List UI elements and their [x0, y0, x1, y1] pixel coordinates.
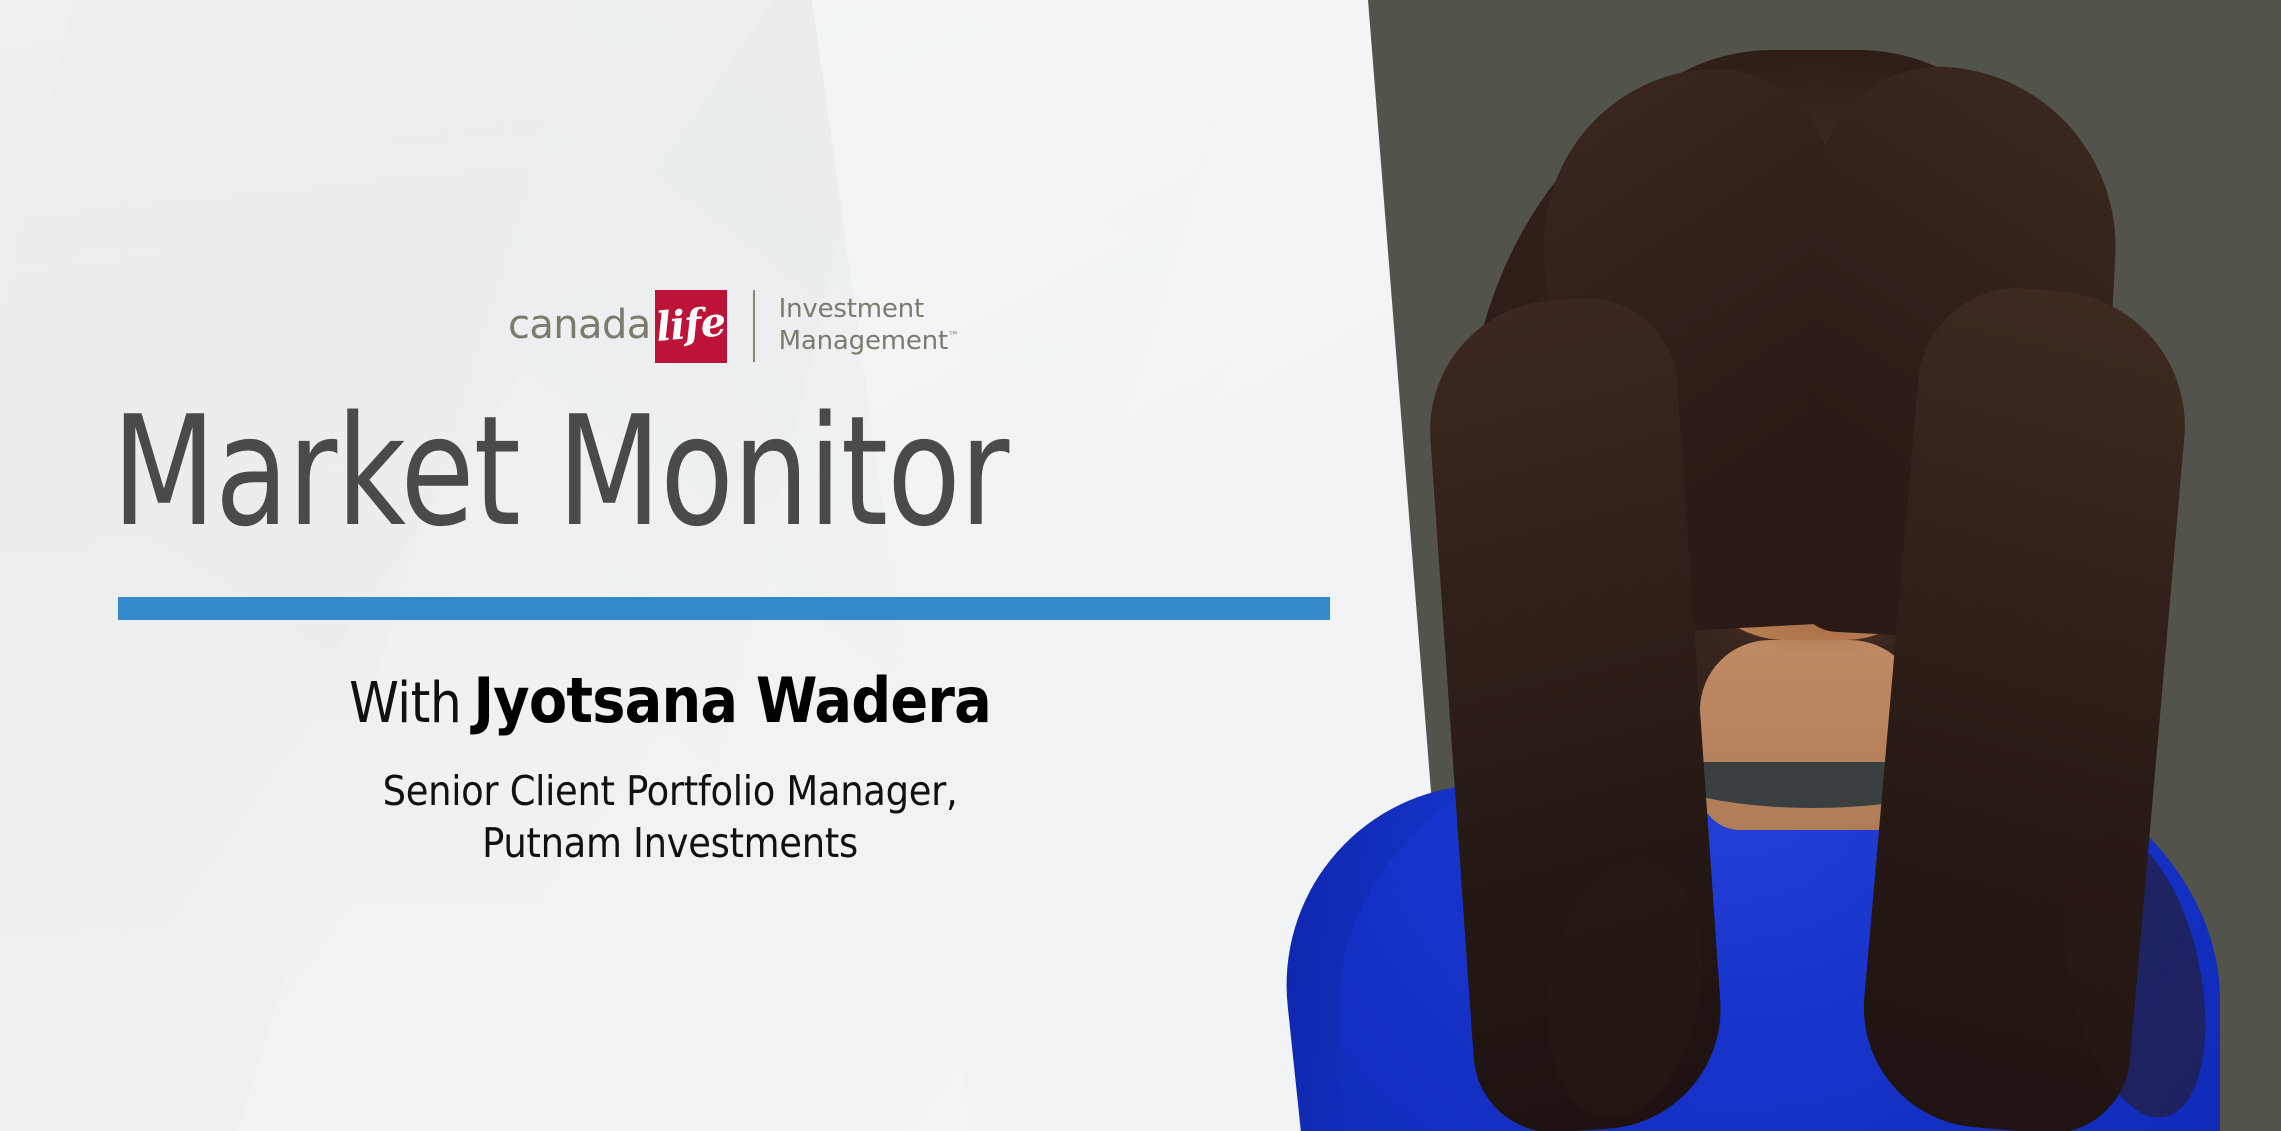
logo-divider — [753, 290, 755, 362]
logo-investment-management-lockup: Investment Management™ — [779, 294, 959, 357]
title-underline-rule — [118, 597, 1330, 620]
presenter-role: Senior Client Portfolio Manager, Putnam … — [0, 765, 1340, 870]
presenter-role-line2: Putnam Investments — [0, 817, 1340, 869]
presenter-role-line1: Senior Client Portfolio Manager, — [0, 765, 1340, 817]
canada-life-investment-management-logo: canada life Investment Management™ — [508, 287, 959, 365]
logo-life-badge: life — [655, 290, 727, 363]
logo-investment-line2: Management — [779, 326, 948, 356]
presenter-line: WithJyotsana Wadera — [0, 664, 1340, 737]
market-monitor-banner: canada life Investment Management™ Marke… — [0, 0, 2281, 1131]
presenter-portrait-image — [1250, 0, 2281, 1131]
logo-investment-line1: Investment — [779, 294, 924, 324]
presenter-name: Jyotsana Wadera — [473, 664, 991, 737]
presenter-with-label: With — [349, 671, 461, 736]
logo-canada-wordmark: canada — [508, 305, 651, 347]
trademark-symbol: ™ — [948, 329, 959, 342]
logo-life-wordmark: life — [655, 302, 727, 348]
page-title: Market Monitor — [112, 396, 1203, 548]
